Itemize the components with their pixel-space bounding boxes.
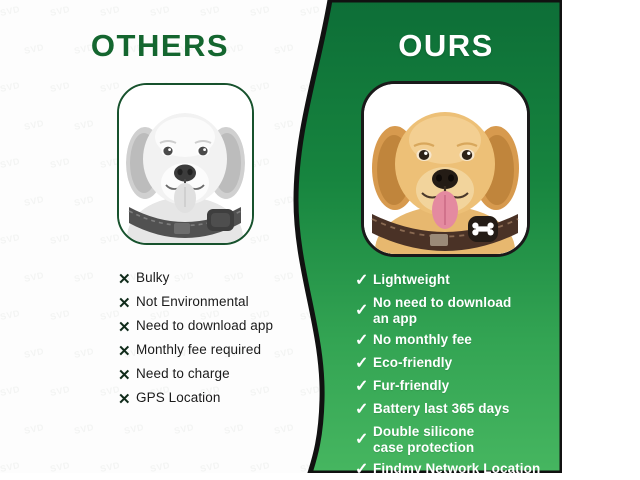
ours-feature-item: ✓Eco-friendly — [355, 355, 560, 372]
others-feature-item-label: Need to download app — [136, 318, 273, 334]
ours-feature-item-label: Eco-friendly — [373, 355, 452, 371]
infographic-canvas: SVDSVDSVDSVDSVDSVDSVDSVDSVDSVDSVDSVDSVDS… — [0, 0, 562, 473]
others-photo-frame — [117, 83, 254, 245]
ours-photo-frame — [361, 81, 530, 257]
others-feature-item-label: GPS Location — [136, 390, 221, 406]
others-feature-item: ✕GPS Location — [118, 390, 328, 407]
ours-feature-item: ✓Battery last 365 days — [355, 401, 560, 418]
check-icon: ✓ — [355, 402, 373, 418]
ours-feature-item-label: Battery last 365 days — [373, 401, 509, 417]
ours-feature-item-label: No monthly fee — [373, 332, 472, 348]
others-feature-item: ✕Need to charge — [118, 366, 328, 383]
others-feature-item-label: Bulky — [136, 270, 170, 286]
ours-title: OURS — [330, 28, 562, 64]
cross-icon: ✕ — [118, 296, 136, 311]
cross-icon: ✕ — [118, 392, 136, 407]
ours-feature-list: ✓Lightweight✓No need to download an app✓… — [355, 272, 560, 473]
others-feature-item: ✕Not Environmental — [118, 294, 328, 311]
check-icon: ✓ — [355, 273, 373, 289]
ours-feature-item: ✓Fur-friendly — [355, 378, 560, 395]
check-icon: ✓ — [355, 462, 373, 473]
cross-icon: ✕ — [118, 368, 136, 383]
others-feature-item-label: Need to charge — [136, 366, 230, 382]
others-feature-item-label: Monthly fee required — [136, 342, 261, 358]
ours-feature-item-label: No need to download an app — [373, 295, 511, 326]
infographic-root: SVDSVDSVDSVDSVDSVDSVDSVDSVDSVDSVDSVDSVDS… — [0, 0, 640, 480]
others-feature-item: ✕Bulky — [118, 270, 328, 287]
check-icon: ✓ — [355, 303, 373, 319]
others-feature-item: ✕Need to download app — [118, 318, 328, 335]
golden-retriever-grayscale-image — [119, 85, 252, 243]
cross-icon: ✕ — [118, 272, 136, 287]
cross-icon: ✕ — [118, 344, 136, 359]
check-icon: ✓ — [355, 432, 373, 448]
ours-feature-item-label: Double silicone case protection — [373, 424, 474, 455]
others-title: OTHERS — [0, 28, 320, 64]
others-feature-list: ✕Bulky✕Not Environmental✕Need to downloa… — [118, 270, 328, 414]
ours-feature-item-label: Fur-friendly — [373, 378, 449, 394]
ours-feature-item: ✓Lightweight — [355, 272, 560, 289]
ours-feature-item: ✓Findmy Network Location — [355, 461, 560, 473]
ours-feature-item: ✓No monthly fee — [355, 332, 560, 349]
others-feature-item-label: Not Environmental — [136, 294, 249, 310]
ours-feature-item: ✓Double silicone case protection — [355, 424, 560, 455]
ours-feature-item-label: Findmy Network Location — [373, 461, 540, 473]
ours-feature-item: ✓No need to download an app — [355, 295, 560, 326]
others-feature-item: ✕Monthly fee required — [118, 342, 328, 359]
check-icon: ✓ — [355, 379, 373, 395]
check-icon: ✓ — [355, 356, 373, 372]
ours-feature-item-label: Lightweight — [373, 272, 450, 288]
golden-retriever-color-image — [364, 84, 527, 254]
check-icon: ✓ — [355, 333, 373, 349]
cross-icon: ✕ — [118, 320, 136, 335]
